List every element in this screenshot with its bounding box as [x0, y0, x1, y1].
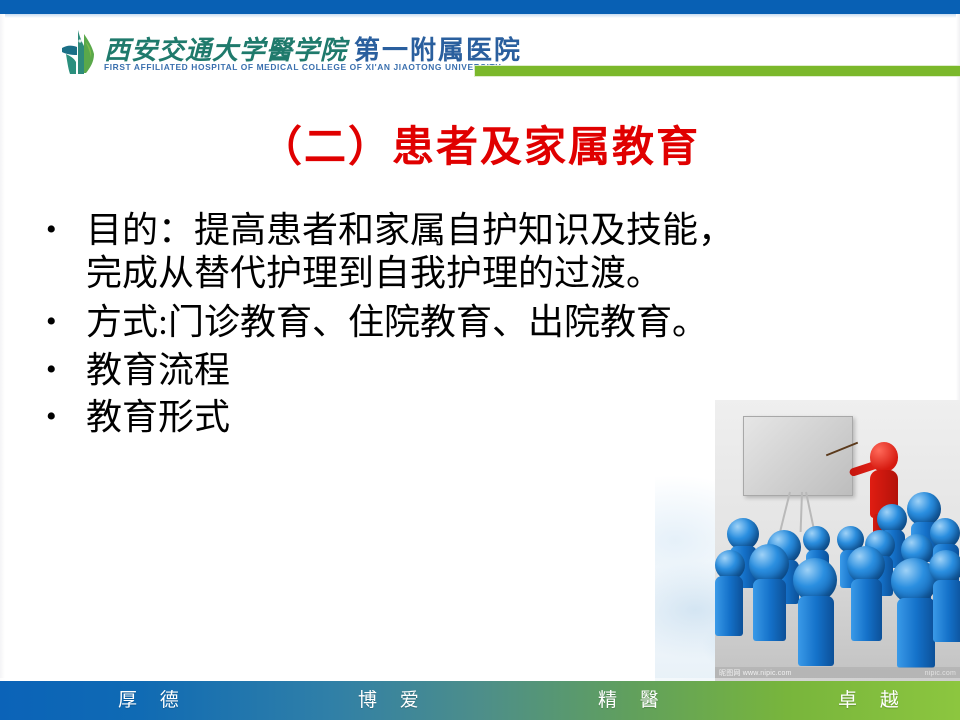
figure-torso [715, 576, 743, 636]
hospital-logo-icon [56, 28, 102, 76]
presentation-slide: 西安交通大学醫学院第一附属医院 FIRST AFFILIATED HOSPITA… [0, 0, 960, 720]
figure-torso [933, 580, 960, 642]
footer-motto-item: 博 爱 [240, 681, 480, 720]
header-green-accent-bar [475, 66, 960, 76]
blue-audience-figures-icon [715, 400, 960, 681]
slide-illustration: 昵图网 www.nipic.com nipic.com [655, 400, 960, 681]
list-item: • 目的：提高患者和家属自护知识及技能， 完成从替代护理到自我护理的过渡。 [46, 209, 906, 295]
bullet-point-icon: • [46, 349, 86, 390]
figure-head [929, 550, 960, 584]
figure-torso [897, 598, 935, 668]
watermark-text: 昵图网 www.nipic.com [719, 670, 792, 677]
list-item-text: 教育流程 [86, 349, 906, 392]
list-item-text: 目的：提高患者和家属自护知识及技能， 完成从替代护理到自我护理的过渡。 [86, 209, 906, 295]
logo-chinese-hospital: 第一附属医院 [354, 36, 522, 65]
logo-chinese-university: 西安交通大学醫学院 [104, 36, 347, 65]
slide-header: 西安交通大学醫学院第一附属医院 FIRST AFFILIATED HOSPITA… [0, 18, 960, 88]
footer-motto-item: 厚 德 [0, 681, 240, 720]
list-item: • 教育流程 [46, 349, 906, 392]
page-title: （二）患者及家属教育 [0, 113, 960, 174]
list-item-text: 方式:门诊教育、住院教育、出院教育。 [86, 301, 906, 344]
figure-torso [851, 579, 882, 641]
bullet-point-icon: • [46, 396, 86, 437]
figure-head [749, 544, 789, 584]
figure-torso [753, 579, 786, 641]
footer-motto-list: 厚 德 博 爱 精 醫 卓 越 [0, 681, 960, 720]
figure-head [803, 526, 830, 553]
list-item: • 方式:门诊教育、住院教育、出院教育。 [46, 301, 906, 344]
footer-motto-item: 卓 越 [720, 681, 960, 720]
bullet-point-icon: • [46, 209, 86, 250]
figure-torso [798, 596, 834, 666]
footer-motto-item: 精 醫 [480, 681, 720, 720]
teaching-scene-photo: 昵图网 www.nipic.com nipic.com [715, 400, 960, 681]
bullet-point-icon: • [46, 301, 86, 342]
logo-english-name: FIRST AFFILIATED HOSPITAL OF MEDICAL COL… [104, 62, 501, 72]
top-blue-band [0, 0, 960, 14]
